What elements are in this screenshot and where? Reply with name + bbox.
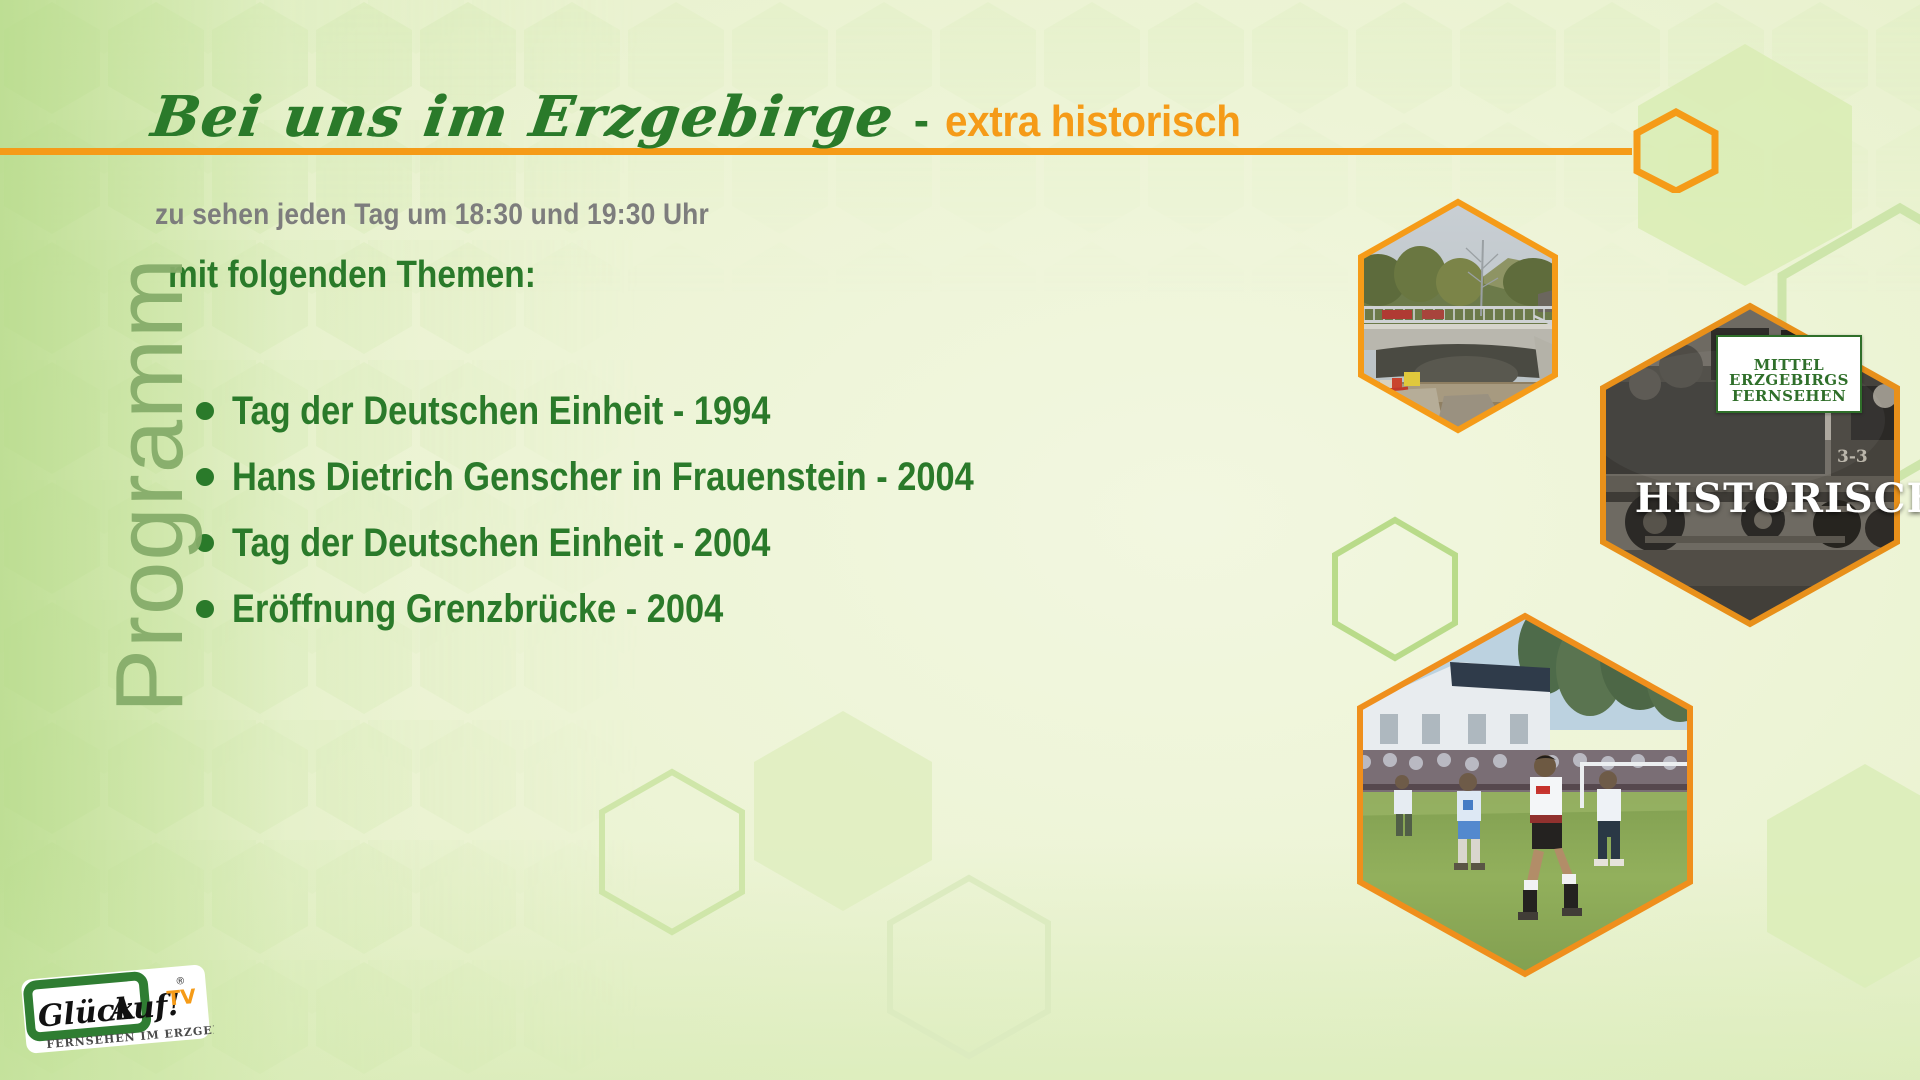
list-item: Tag der Deutschen Einheit - 1994 (196, 378, 1246, 444)
title-extra-text: extra historisch (945, 97, 1241, 147)
list-item-label: Tag der Deutschen Einheit - 1994 (232, 389, 770, 434)
decor-hex-filled-bottomright (1760, 760, 1920, 990)
mef-logo-box: MITTEL ERZGEBIRGS FERNSEHEN (1716, 335, 1862, 413)
list-item: Tag der Deutschen Einheit - 2004 (196, 510, 1246, 576)
vertical-section-label: Programm (95, 175, 205, 795)
list-item: Hans Dietrich Genscher in Frauenstein - … (196, 444, 1246, 510)
list-item-label: Tag der Deutschen Einheit - 2004 (232, 521, 770, 566)
header-hexagon-accent-icon (1630, 107, 1722, 193)
glueckauf-tv-logo[interactable]: Glück Auf! ® TV FERNSEHEN IM ERZGEBIRGE (18, 962, 214, 1066)
topics-intro-label: mit folgenden Themen: (168, 254, 536, 297)
historisch-word: HISTORISCH (1620, 475, 1920, 522)
page-title: Bei uns im Erzgebirge - extra historisch (152, 84, 1352, 154)
hex-photo-bridge[interactable] (1348, 196, 1568, 436)
title-script-text: Bei uns im Erzgebirge (147, 84, 898, 150)
decor-hex-outline-center (596, 768, 748, 936)
decor-hex-outline-bottom (884, 874, 1054, 1060)
svg-text:TV: TV (166, 984, 198, 1010)
topics-list: Tag der Deutschen Einheit - 1994 Hans Di… (196, 378, 1246, 642)
mef-line-3: FERNSEHEN (1732, 389, 1846, 404)
slide-canvas: Bei uns im Erzgebirge - extra historisch… (0, 0, 1920, 1080)
title-dash: - (914, 93, 929, 147)
list-item-label: Hans Dietrich Genscher in Frauenstein - … (232, 455, 974, 500)
broadcast-times-subtitle: zu sehen jeden Tag um 18:30 und 19:30 Uh… (155, 198, 709, 232)
hex-photo-soccer[interactable] (1340, 610, 1710, 980)
list-item-label: Eröffnung Grenzbrücke - 2004 (232, 587, 723, 632)
list-item: Eröffnung Grenzbrücke - 2004 (196, 576, 1246, 642)
